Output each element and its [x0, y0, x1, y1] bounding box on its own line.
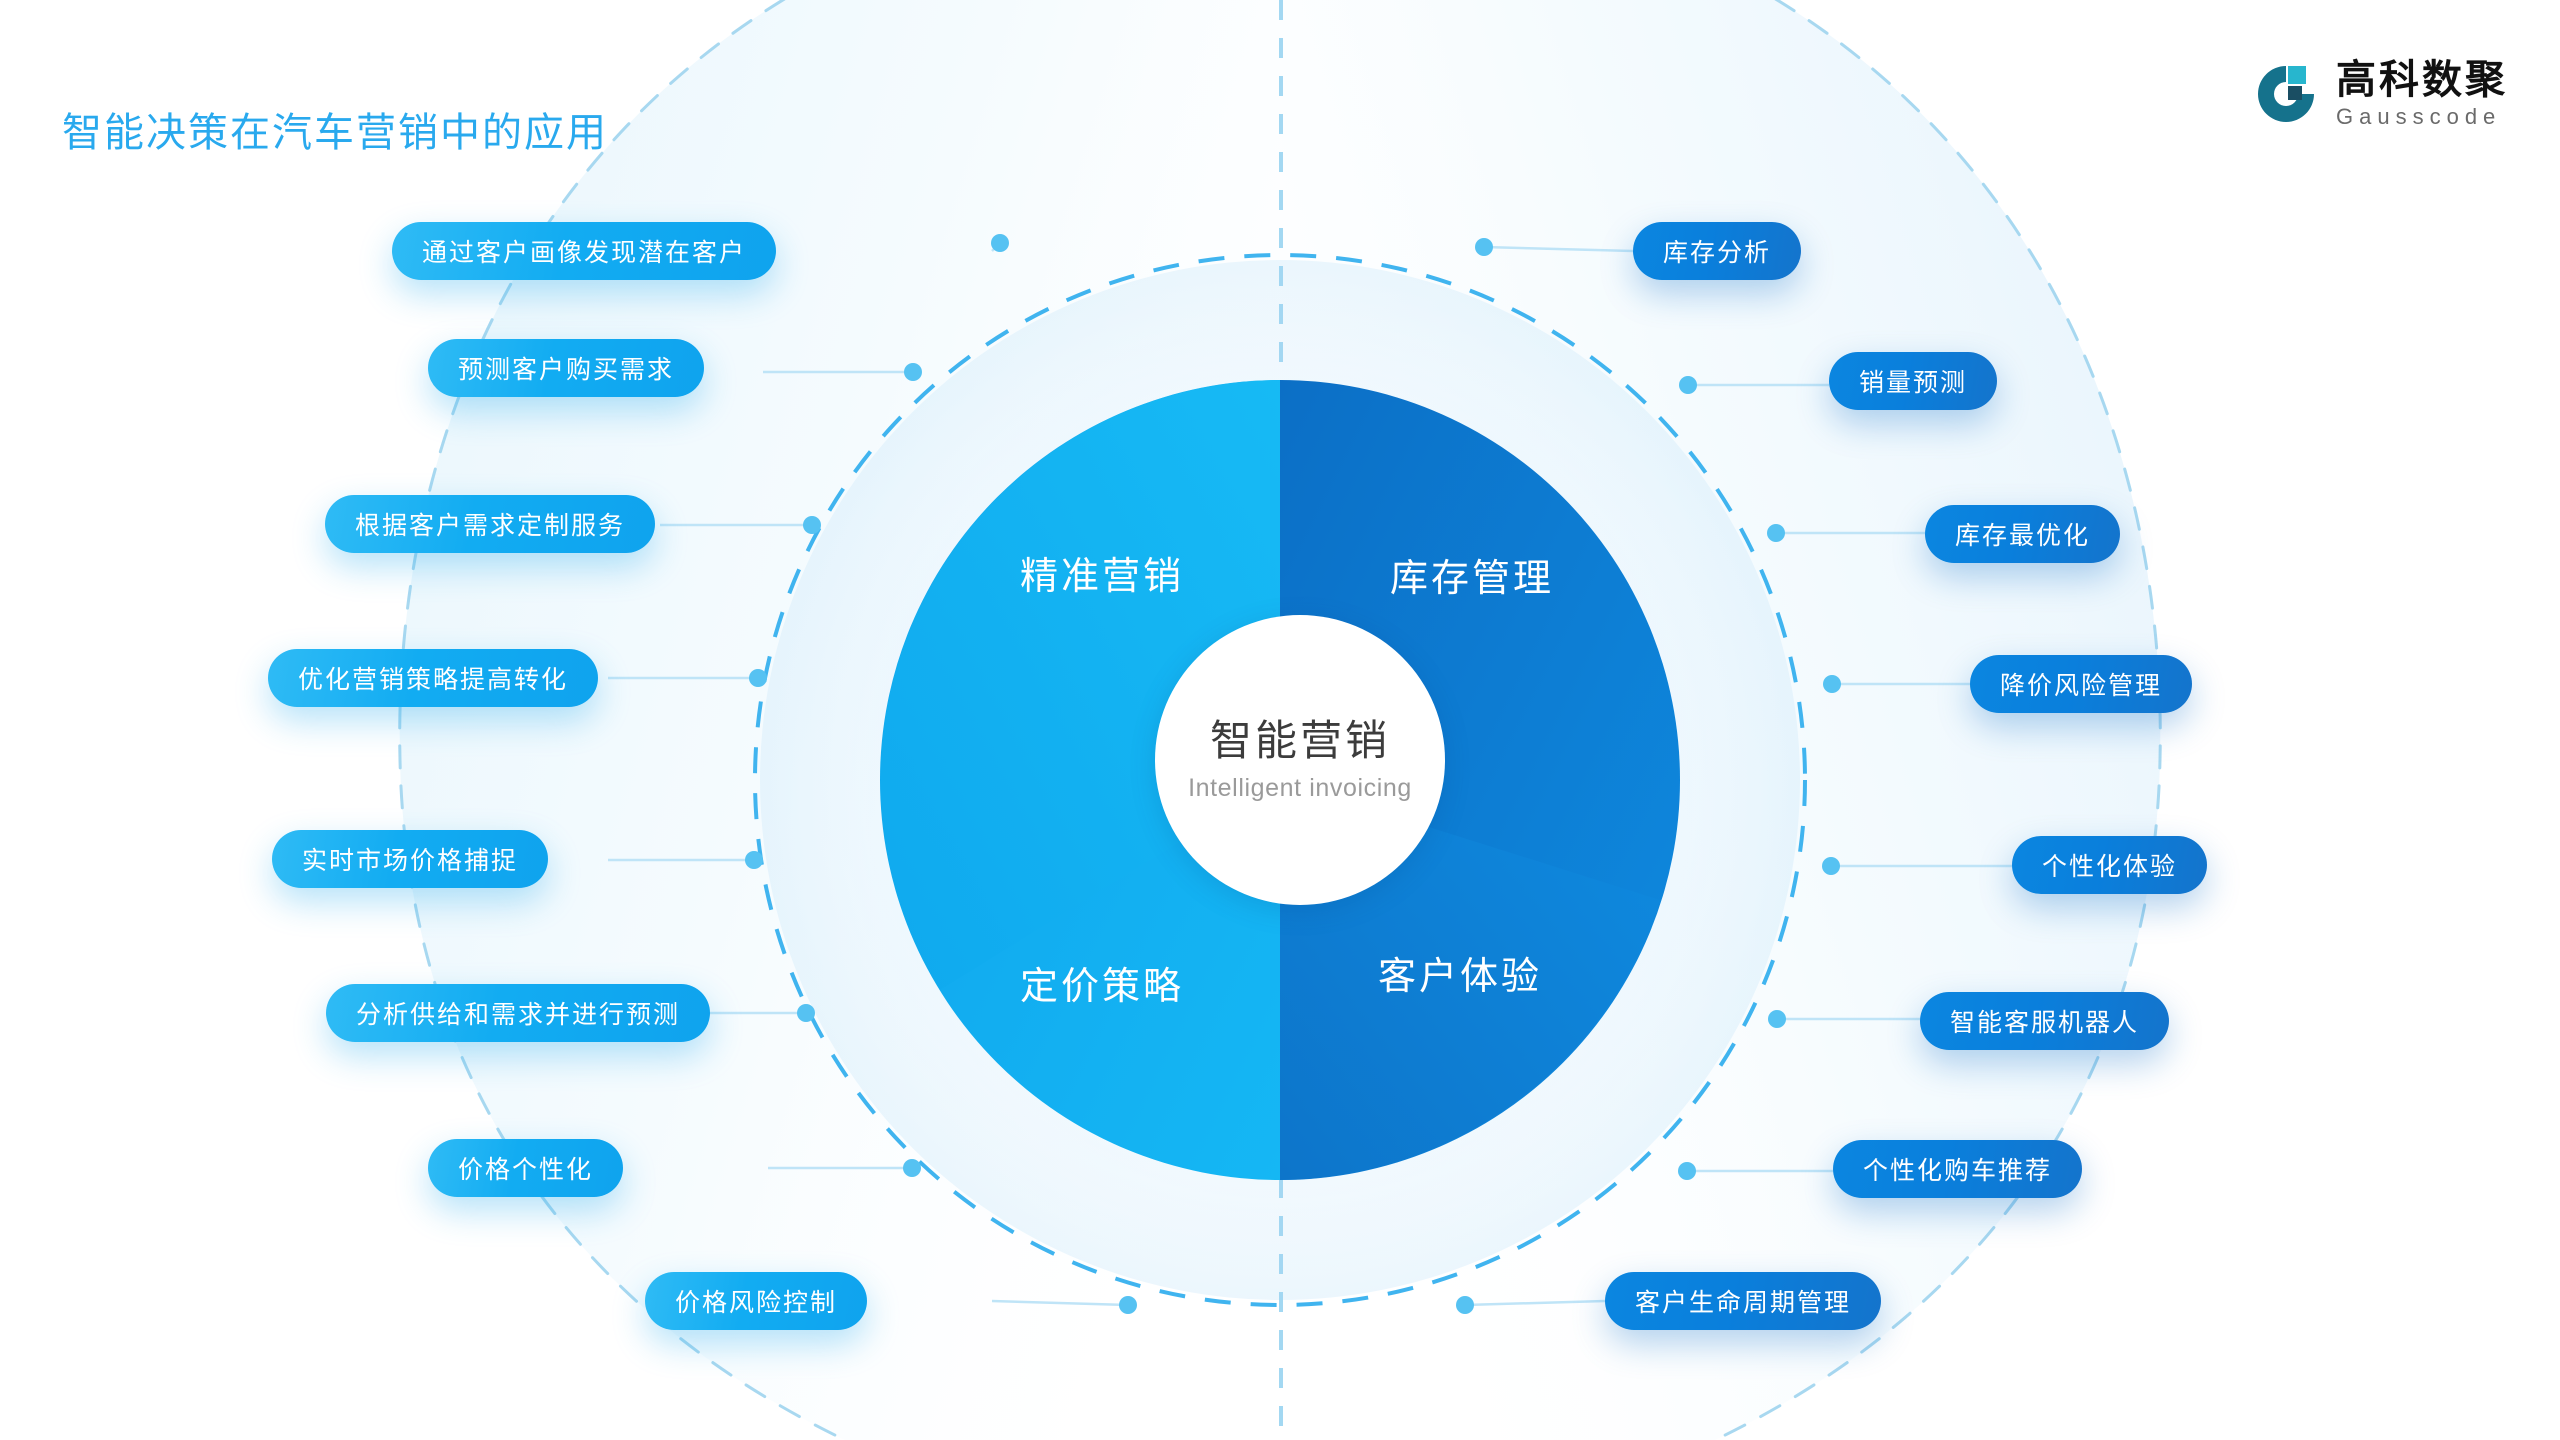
logo-name-cn: 高科数聚: [2336, 60, 2508, 100]
left-pill-2[interactable]: 根据客户需求定制服务: [325, 495, 655, 553]
right-pill-1[interactable]: 销量预测: [1829, 352, 1997, 410]
hub-title-cn: 智能营销: [1210, 720, 1390, 762]
pill-label: 分析供给和需求并进行预测: [356, 995, 680, 1031]
right-connector-dot-3: [1823, 675, 1841, 693]
left-connector-dot-2: [803, 516, 821, 534]
right-pill-4[interactable]: 个性化体验: [2012, 836, 2207, 894]
right-pill-6[interactable]: 个性化购车推荐: [1833, 1140, 2082, 1198]
right-connector-dot-7: [1456, 1296, 1474, 1314]
pill-label: 预测客户购买需求: [458, 350, 674, 386]
pill-label: 销量预测: [1859, 363, 1967, 399]
left-pill-6[interactable]: 价格个性化: [428, 1139, 623, 1197]
gausscode-logo-mark: [2254, 62, 2318, 126]
left-pill-0[interactable]: 通过客户画像发现潜在客户: [392, 222, 776, 280]
left-pill-3[interactable]: 优化营销策略提高转化: [268, 649, 598, 707]
quadrant-label-bottom-right: 客户体验: [1378, 945, 1542, 1000]
infographic-canvas: 智能决策在汽车营销中的应用 高科数聚 Gausscode: [0, 0, 2560, 1440]
right-connector-line-7: [1465, 1301, 1605, 1305]
left-pill-1[interactable]: 预测客户购买需求: [428, 339, 704, 397]
right-connector-dot-1: [1679, 376, 1697, 394]
pill-label: 客户生命周期管理: [1635, 1283, 1851, 1319]
quadrant-label-bottom-left: 定价策略: [1020, 955, 1184, 1010]
left-connector-dot-0: [991, 234, 1009, 252]
pill-label: 根据客户需求定制服务: [355, 506, 625, 542]
quadrant-label-top-right: 库存管理: [1390, 547, 1554, 602]
pill-label: 个性化购车推荐: [1863, 1151, 2052, 1187]
left-connector-dot-7: [1119, 1296, 1137, 1314]
pill-label: 降价风险管理: [2000, 666, 2162, 702]
right-pill-5[interactable]: 智能客服机器人: [1920, 992, 2169, 1050]
left-connector-line-7: [992, 1301, 1128, 1305]
left-connector-dot-1: [904, 363, 922, 381]
logo-name-en: Gausscode: [2336, 106, 2508, 128]
right-pill-2[interactable]: 库存最优化: [1925, 505, 2120, 563]
pill-label: 库存分析: [1663, 233, 1771, 269]
pill-label: 价格个性化: [458, 1150, 593, 1186]
pill-label: 通过客户画像发现潜在客户: [422, 233, 746, 269]
pill-label: 智能客服机器人: [1950, 1003, 2139, 1039]
left-connector-dot-4: [745, 851, 763, 869]
pill-label: 个性化体验: [2042, 847, 2177, 883]
left-connector-dot-3: [749, 669, 767, 687]
right-pill-7[interactable]: 客户生命周期管理: [1605, 1272, 1881, 1330]
left-connector-line-0: [992, 243, 1000, 251]
brand-logo: 高科数聚 Gausscode: [2254, 60, 2508, 128]
right-connector-dot-0: [1475, 238, 1493, 256]
right-pill-3[interactable]: 降价风险管理: [1970, 655, 2192, 713]
right-connector-line-0: [1484, 247, 1633, 251]
pill-label: 库存最优化: [1955, 516, 2090, 552]
pill-label: 实时市场价格捕捉: [302, 841, 518, 877]
hub-title-en: Intelligent invoicing: [1188, 776, 1412, 801]
right-pill-0[interactable]: 库存分析: [1633, 222, 1801, 280]
right-connector-dot-6: [1678, 1162, 1696, 1180]
right-connector-dot-4: [1822, 857, 1840, 875]
left-pill-5[interactable]: 分析供给和需求并进行预测: [326, 984, 710, 1042]
page-title: 智能决策在汽车营销中的应用: [62, 100, 608, 158]
left-connector-dot-5: [797, 1004, 815, 1022]
center-hub: 智能营销 Intelligent invoicing: [1155, 615, 1445, 905]
right-connector-dot-5: [1768, 1010, 1786, 1028]
pill-label: 优化营销策略提高转化: [298, 660, 568, 696]
left-pill-7[interactable]: 价格风险控制: [645, 1272, 867, 1330]
quadrant-label-top-left: 精准营销: [1020, 545, 1184, 600]
right-connector-dot-2: [1767, 524, 1785, 542]
left-pill-4[interactable]: 实时市场价格捕捉: [272, 830, 548, 888]
pill-label: 价格风险控制: [675, 1283, 837, 1319]
